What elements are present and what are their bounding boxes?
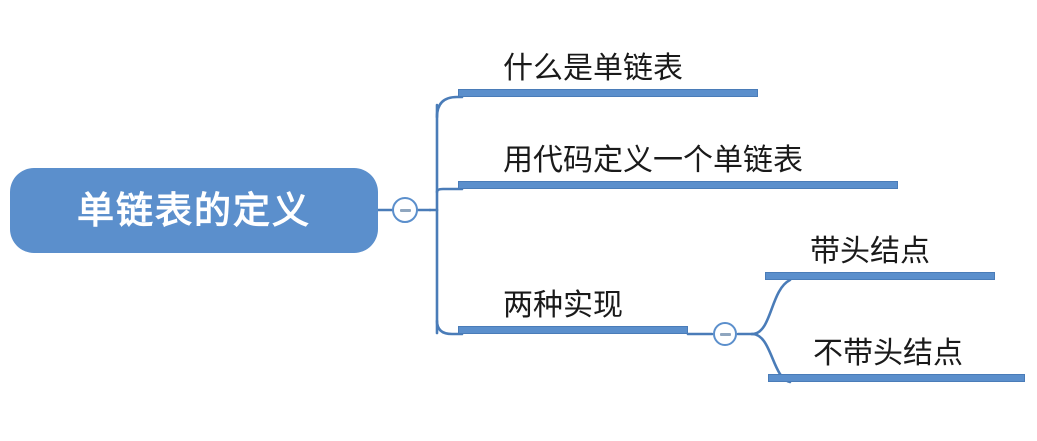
minus-icon (720, 333, 731, 336)
collapse-toggle-two-implementations[interactable] (713, 322, 737, 346)
topic-underline-bar (458, 326, 688, 334)
topic-label: 两种实现 (503, 291, 623, 321)
collapse-toggle-root[interactable] (392, 197, 418, 223)
mindmap-canvas: 单链表的定义 什么是单链表 用代码定义一个单链表 两种实现 带头结点 不带头结点 (0, 0, 1037, 441)
topic-label: 什么是单链表 (503, 54, 683, 84)
topic-node-two-implementations[interactable]: 两种实现 (458, 257, 688, 334)
topic-node-without-head-node[interactable]: 不带头结点 (768, 305, 1025, 382)
root-label: 单链表的定义 (77, 192, 311, 229)
topic-node-define-with-code[interactable]: 用代码定义一个单链表 (458, 112, 898, 189)
topic-underline-bar (765, 272, 995, 280)
topic-label: 不带头结点 (813, 339, 963, 369)
root-node[interactable]: 单链表的定义 (10, 168, 378, 253)
topic-node-what-is-linked-list[interactable]: 什么是单链表 (458, 20, 758, 97)
topic-node-with-head-node[interactable]: 带头结点 (765, 203, 995, 280)
topic-underline-bar (458, 89, 758, 97)
topic-underline-bar (768, 374, 1025, 382)
minus-icon (400, 209, 411, 212)
connector-branch-2 (437, 189, 462, 192)
topic-underline-bar (458, 181, 898, 189)
topic-label: 带头结点 (810, 237, 930, 267)
topic-label: 用代码定义一个单链表 (503, 146, 803, 176)
